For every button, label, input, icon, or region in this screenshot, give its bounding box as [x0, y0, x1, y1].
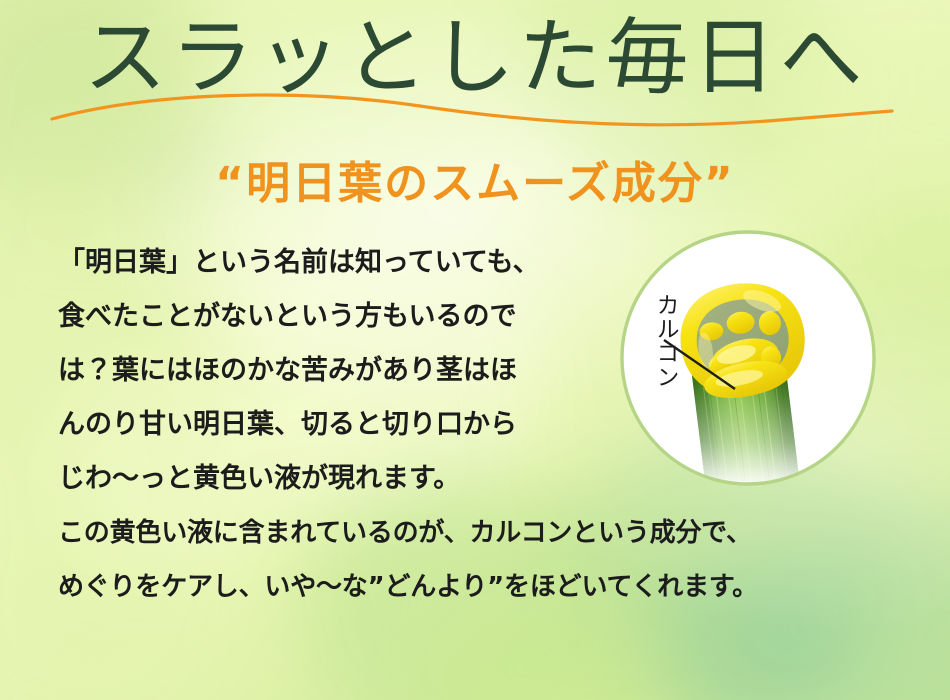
- chalcone-label: カルコン: [650, 282, 680, 400]
- copy-line: この黄色い液に含まれているのが、カルコンという成分で、: [58, 506, 938, 560]
- headline-group: スラッとした毎日へ: [0, 14, 950, 124]
- page-title: スラッとした毎日へ: [0, 14, 950, 101]
- copy-line: めぐりをケアし、いや〜な”どんより”をほどいてくれます。: [58, 560, 938, 614]
- ad-banner: スラッとした毎日へ “明日葉のスムーズ成分” 「明日葉」という名前は知っていても…: [0, 0, 950, 700]
- subtitle: “明日葉のスムーズ成分”: [0, 147, 950, 211]
